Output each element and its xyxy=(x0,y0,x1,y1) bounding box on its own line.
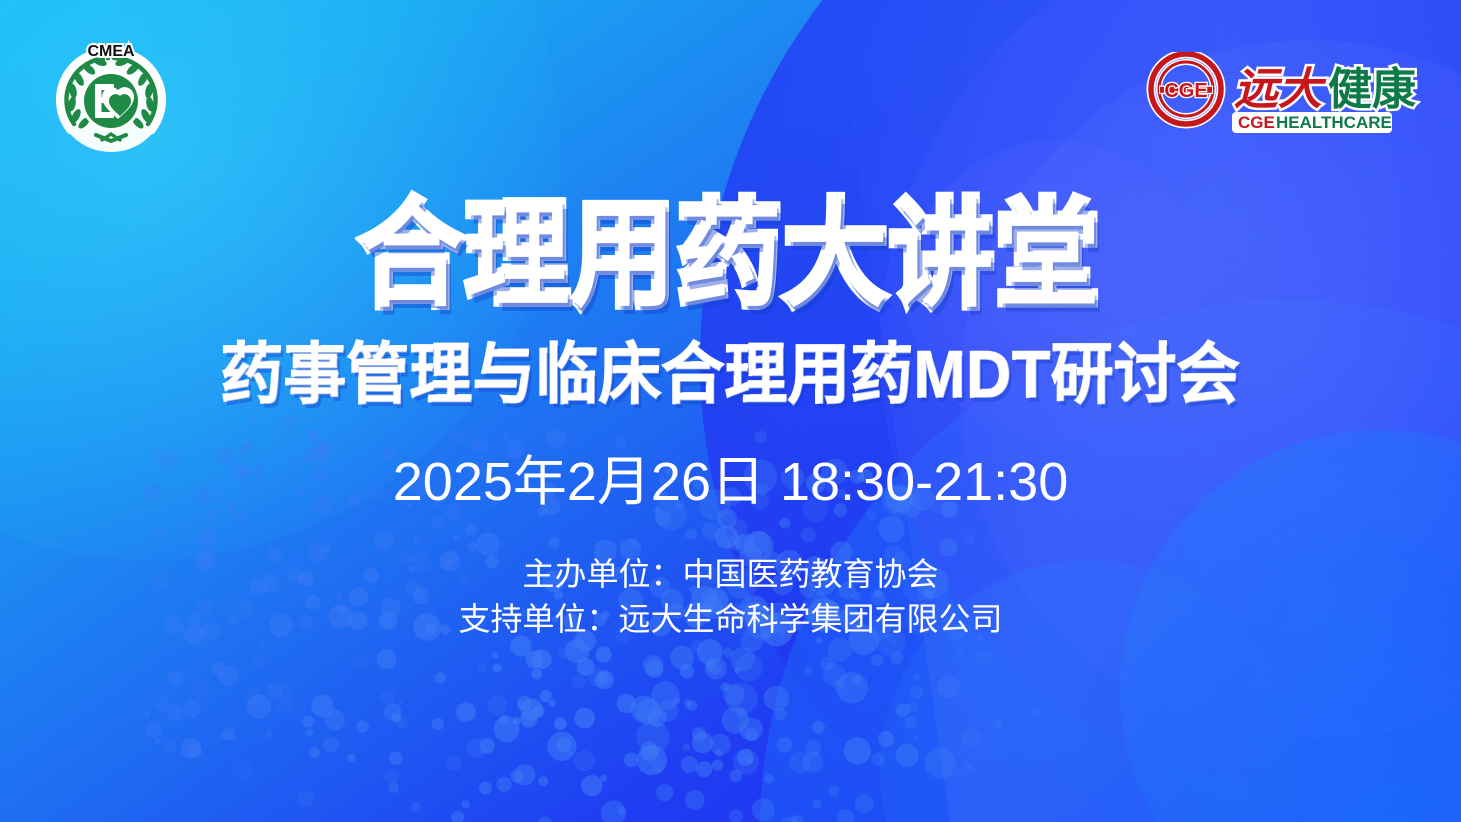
sub-title: 药事管理与临床合理用药MDT研讨会 xyxy=(0,343,1461,409)
organizer-line-supporter: 支持单位：远大生命科学集团有限公司 xyxy=(0,597,1461,642)
cge-healthcare-logo: CGE 远大 健康 CGE HEALTHCARE xyxy=(1146,52,1424,140)
organizer-block: 主办单位：中国医药教育协会 支持单位：远大生命科学集团有限公司 xyxy=(0,552,1461,643)
cge-mark-text: CGE xyxy=(1164,80,1207,102)
event-datetime: 2025年2月26日 18:30-21:30 xyxy=(0,455,1461,509)
cge-english-name: CGE HEALTHCARE xyxy=(1232,112,1392,133)
cge-chinese-name: 远大 健康 xyxy=(1234,64,1416,115)
cmea-acronym-text: CMEA xyxy=(87,43,135,60)
cge-english-part2: HEALTHCARE xyxy=(1276,113,1392,132)
cge-chinese-part1: 远大 xyxy=(1234,64,1327,115)
organizer-line-host: 主办单位：中国医药教育协会 xyxy=(0,552,1461,597)
cge-english-part1: CGE xyxy=(1238,113,1275,132)
main-title: 合理用药大讲堂 xyxy=(0,197,1461,313)
event-poster: CMEA CGE 远大 健康 xyxy=(0,0,1461,822)
cge-circle-mark-icon: CGE xyxy=(1151,54,1221,124)
cmea-wreath-icon xyxy=(58,52,164,152)
cmea-logo: CMEA xyxy=(52,40,170,155)
cge-chinese-part2: 健康 xyxy=(1328,64,1416,115)
